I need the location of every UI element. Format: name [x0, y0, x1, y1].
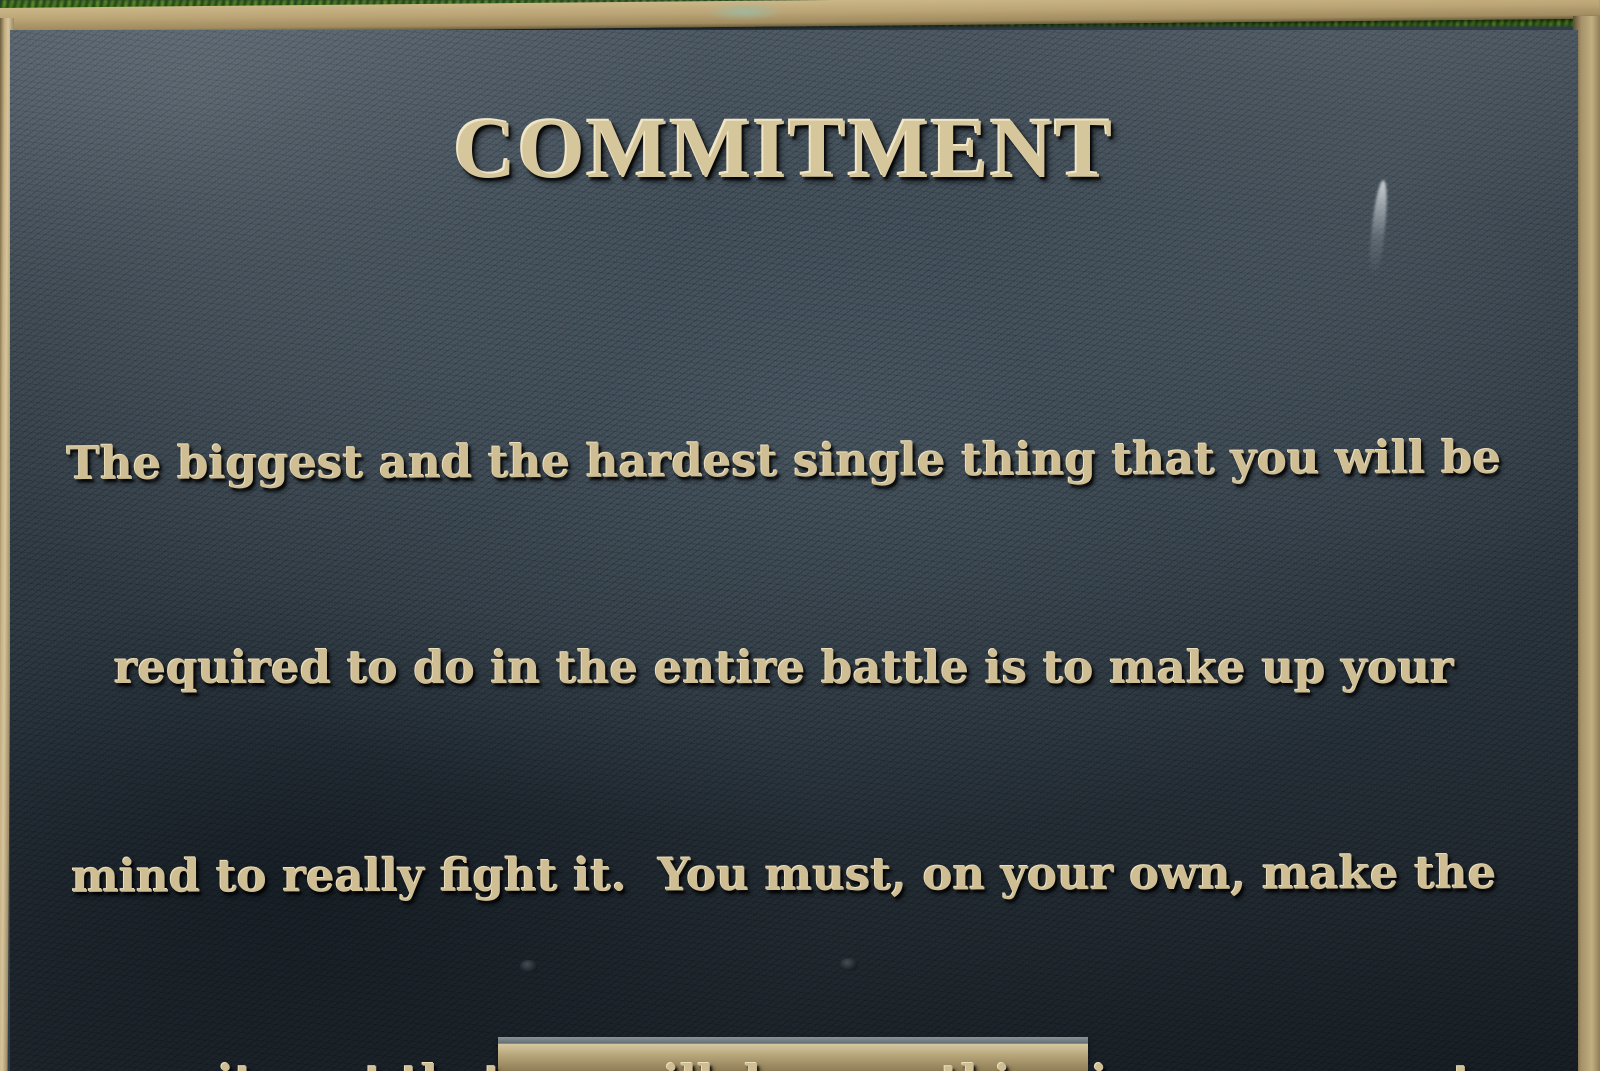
- plaque-body-line: commitment that you will do everything i…: [14, 1047, 1554, 1071]
- plaque-photo-scene: COMMITMENT The biggest and the hardest s…: [0, 0, 1600, 1071]
- plaque-title: COMMITMENT: [0, 98, 1568, 198]
- plaque-inscription: COMMITMENT The biggest and the hardest s…: [0, 0, 1568, 1041]
- plaque-body-line: required to do in the entire battle is t…: [14, 633, 1554, 702]
- plaque-body-line: mind to really fight it. You must, on yo…: [14, 838, 1554, 911]
- plaque-body-text: The biggest and the hardest single thing…: [14, 288, 1554, 1071]
- plaque-body-line: The biggest and the hardest single thing…: [14, 423, 1554, 499]
